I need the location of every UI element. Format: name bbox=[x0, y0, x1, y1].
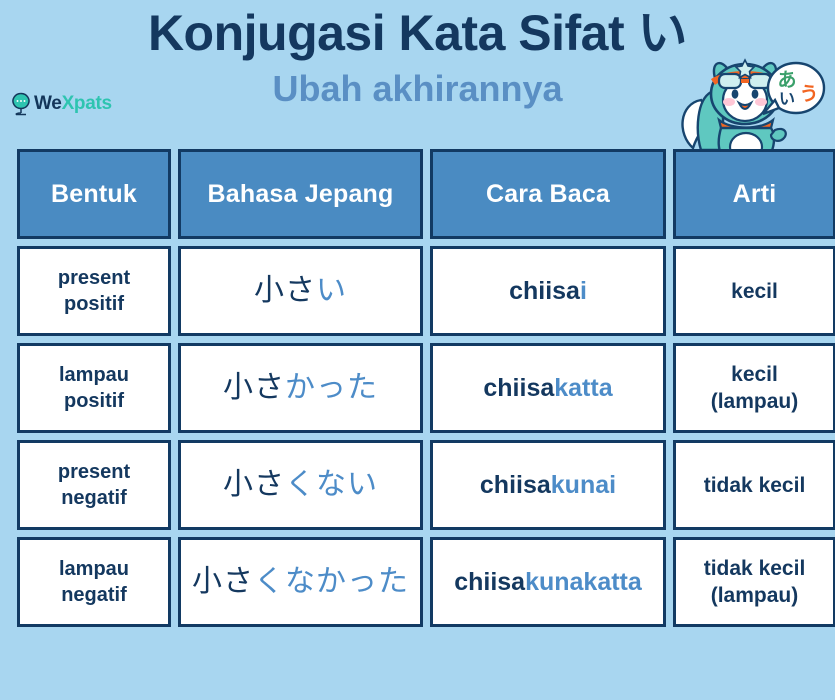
column-header-bentuk: Bentuk bbox=[17, 149, 171, 239]
table-row: present negatif 小さくない chiisakunai tidak … bbox=[17, 440, 835, 530]
page-subtitle: Ubah akhirannya bbox=[0, 66, 835, 112]
cell-cara-baca: chiisai bbox=[430, 246, 666, 336]
cell-bentuk: lampau positif bbox=[17, 343, 171, 433]
conjugation-table: Bentuk Bahasa Jepang Cara Baca Arti pres… bbox=[10, 142, 835, 634]
cell-bahasa-jepang: 小さい bbox=[178, 246, 423, 336]
jepang-suffix: かった bbox=[285, 371, 378, 404]
table-row: lampau positif 小さかった chiisakatta kecil (… bbox=[17, 343, 835, 433]
jepang-base: 小さ bbox=[254, 274, 316, 307]
baca-suffix: kunai bbox=[551, 471, 616, 499]
arti-line-2: (lampau) bbox=[680, 388, 829, 415]
baca-base: chiisa bbox=[454, 568, 525, 596]
globe-icon bbox=[10, 92, 32, 116]
baca-base: chiisa bbox=[483, 374, 554, 402]
jepang-base: 小さ bbox=[223, 468, 285, 501]
jepang-suffix: くない bbox=[285, 468, 378, 501]
cell-arti: kecil (lampau) bbox=[673, 343, 835, 433]
cell-arti: tidak kecil (lampau) bbox=[673, 537, 835, 627]
bentuk-line-1: present bbox=[24, 459, 164, 485]
column-header-bahasa-jepang: Bahasa Jepang bbox=[178, 149, 423, 239]
cell-bentuk: present negatif bbox=[17, 440, 171, 530]
table-row: present positif 小さい chiisai kecil bbox=[17, 246, 835, 336]
arti-line-1: kecil bbox=[680, 278, 829, 305]
jepang-suffix: い bbox=[316, 274, 347, 307]
arti-line-1: kecil bbox=[680, 361, 829, 388]
arti-line-1: tidak kecil bbox=[680, 472, 829, 499]
baca-base: chiisa bbox=[480, 471, 551, 499]
cell-bentuk: present positif bbox=[17, 246, 171, 336]
baca-suffix: kunakatta bbox=[525, 568, 642, 596]
bentuk-line-1: present bbox=[24, 265, 164, 291]
bentuk-line-2: negatif bbox=[24, 582, 164, 608]
arti-line-1: tidak kecil bbox=[680, 555, 829, 582]
cell-arti: tidak kecil bbox=[673, 440, 835, 530]
bentuk-line-2: positif bbox=[24, 291, 164, 317]
logo-text-xpats: Xpats bbox=[62, 93, 112, 114]
cell-bahasa-jepang: 小さかった bbox=[178, 343, 423, 433]
jepang-suffix: くなかった bbox=[254, 565, 409, 598]
page-header: Konjugasi Kata Sifat い Ubah akhirannya W… bbox=[0, 0, 835, 140]
arti-line-2: (lampau) bbox=[680, 582, 829, 609]
wexpats-logo[interactable]: WeXpats bbox=[10, 92, 112, 116]
column-header-cara-baca: Cara Baca bbox=[430, 149, 666, 239]
bentuk-line-2: positif bbox=[24, 388, 164, 414]
bentuk-line-1: lampau bbox=[24, 556, 164, 582]
cell-bahasa-jepang: 小さくない bbox=[178, 440, 423, 530]
baca-base: chiisa bbox=[509, 277, 580, 305]
logo-text-we: We bbox=[34, 93, 62, 114]
cell-bentuk: lampau negatif bbox=[17, 537, 171, 627]
bentuk-line-2: negatif bbox=[24, 485, 164, 511]
jepang-base: 小さ bbox=[223, 371, 285, 404]
baca-suffix: i bbox=[580, 277, 587, 305]
cell-bahasa-jepang: 小さくなかった bbox=[178, 537, 423, 627]
baca-suffix: katta bbox=[554, 374, 612, 402]
page-title: Konjugasi Kata Sifat い bbox=[0, 2, 835, 64]
cell-cara-baca: chiisakatta bbox=[430, 343, 666, 433]
cell-cara-baca: chiisakunai bbox=[430, 440, 666, 530]
jepang-base: 小さ bbox=[192, 565, 254, 598]
bentuk-line-1: lampau bbox=[24, 362, 164, 388]
column-header-arti: Arti bbox=[673, 149, 835, 239]
cell-cara-baca: chiisakunakatta bbox=[430, 537, 666, 627]
table-header-row: Bentuk Bahasa Jepang Cara Baca Arti bbox=[17, 149, 835, 239]
cell-arti: kecil bbox=[673, 246, 835, 336]
table-row: lampau negatif 小さくなかった chiisakunakatta t… bbox=[17, 537, 835, 627]
